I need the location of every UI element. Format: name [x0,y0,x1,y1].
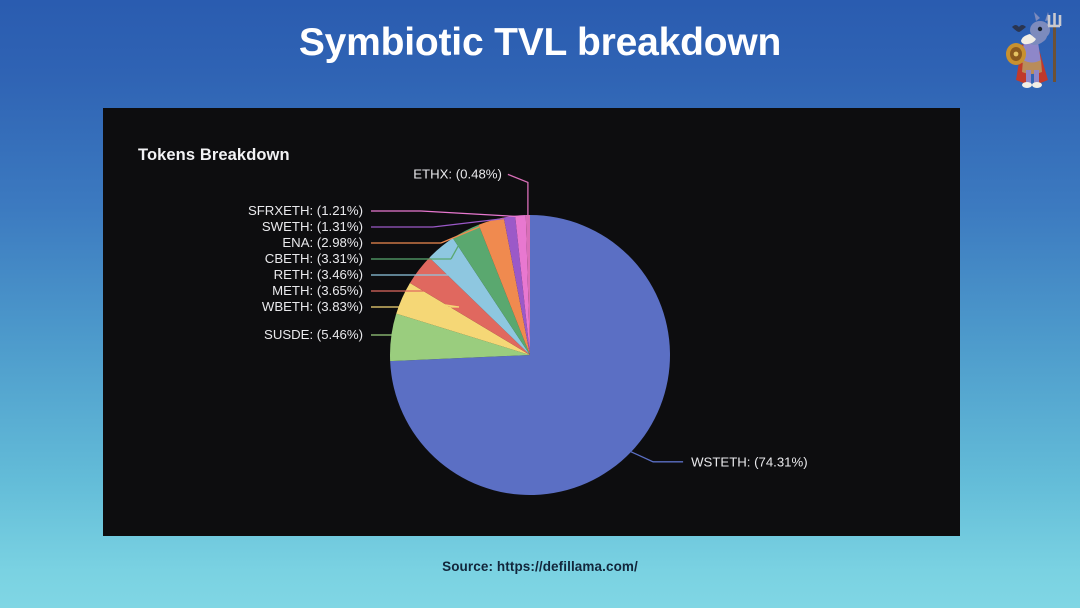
source-caption: Source: https://defillama.com/ [0,559,1080,574]
pie-slices [390,215,670,495]
pie-label-reth: RETH: (3.46%) [274,267,363,282]
pie-label-sfrxeth: SFRXETH: (1.21%) [248,203,363,218]
pie-label-sweth: SWETH: (1.31%) [262,219,363,234]
pie-leader-sfrxeth [421,211,521,217]
defillama-llama-warrior-logo [992,10,1068,94]
pie-chart: WSTETH: (74.31%)SUSDE: (5.46%)WBETH: (3.… [103,108,960,536]
pie-label-wsteth: WSTETH: (74.31%) [691,454,808,469]
pie-label-wbeth: WBETH: (3.83%) [262,299,363,314]
pie-label-susde: SUSDE: (5.46%) [264,327,363,342]
pie-label-ethx: ETHX: (0.48%) [413,166,502,181]
pie-label-cbeth: CBETH: (3.31%) [265,251,363,266]
pie-leader-ethx [508,174,528,216]
pie-label-ena: ENA: (2.98%) [282,235,363,250]
pie-label-meth: METH: (3.65%) [272,283,363,298]
chart-panel: Tokens Breakdown WSTETH: (74.31%)SUSDE: … [103,108,960,536]
slide-root: Symbiotic TVL breakdown [0,0,1080,608]
page-title: Symbiotic TVL breakdown [0,20,1080,66]
pie-leader-wsteth [631,452,683,462]
